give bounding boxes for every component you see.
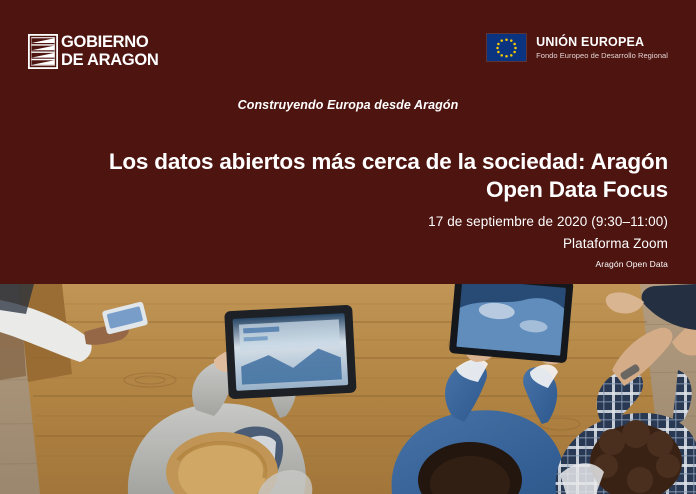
union-europea-logo: UNIÓN EUROPEA Fondo Europeo de Desarroll… [486,33,668,62]
gobierno-logo-line1: GOBIERNO [61,34,159,52]
event-date: 17 de septiembre de 2020 (9:30–11:00) [68,211,668,233]
gobierno-logo-line2: DE ARAGON [61,52,159,70]
gobierno-de-aragon-logo: GOBIERNO DE ARAGON [28,34,159,69]
header-photo [0,284,696,494]
page-title-line2: Data Focus [549,177,668,202]
eu-logo-text: UNIÓN EUROPEA Fondo Europeo de Desarroll… [536,35,668,61]
eu-flag-icon [486,33,527,62]
event-meta: 17 de septiembre de 2020 (9:30–11:00) Pl… [68,211,668,273]
event-brand: Aragón Open Data [68,255,668,273]
event-platform: Plataforma Zoom [68,233,668,255]
eu-logo-subtitle: Fondo Europeo de Desarrollo Regional [536,50,668,61]
aragon-coat-of-arms-icon [28,34,58,69]
eu-logo-title: UNIÓN EUROPEA [536,35,668,49]
page-title: Los datos abiertos más cerca de la socie… [68,148,668,204]
header-band: GOBIERNO DE ARAGON [0,0,696,284]
tagline: Construyendo Europa desde Aragón [0,98,696,112]
presentation-slide: GOBIERNO DE ARAGON [0,0,696,494]
gobierno-logo-text: GOBIERNO DE ARAGON [61,34,159,69]
